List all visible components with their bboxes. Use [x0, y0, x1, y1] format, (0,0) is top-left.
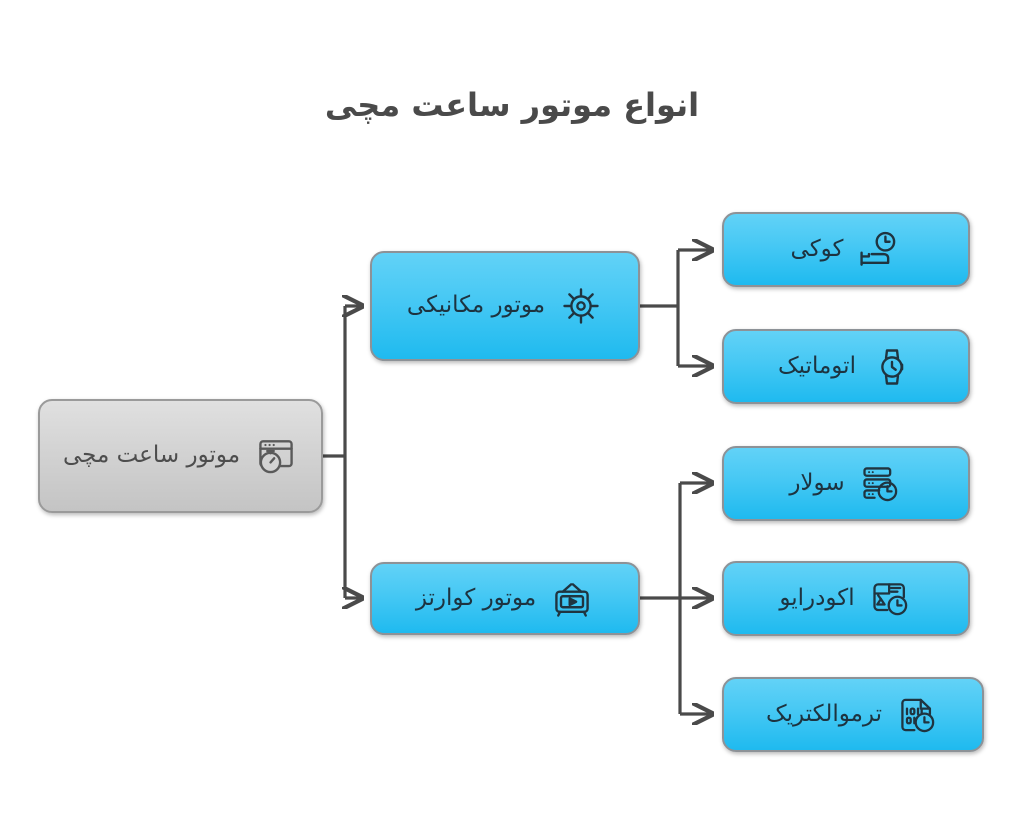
bed-clock-icon [857, 228, 901, 272]
server-clock-icon [859, 462, 903, 506]
node-label: موتور کوارتز [416, 584, 536, 613]
gear-sun-icon [559, 284, 603, 328]
node-solar[interactable]: سولار [722, 446, 970, 521]
node-label: اتوماتیک [778, 352, 856, 381]
node-manual-wind[interactable]: کوکی [722, 212, 970, 287]
binary-file-clock-icon [896, 693, 940, 737]
wristwatch-icon [870, 345, 914, 389]
retro-tv-play-icon [550, 577, 594, 621]
node-eco-drive[interactable]: اکودرایو [722, 561, 970, 636]
node-label: سولار [789, 469, 844, 498]
node-thermoelectric[interactable]: ترموالکتریک [722, 677, 984, 752]
node-label: اکودرایو [779, 584, 854, 613]
node-automatic[interactable]: اتوماتیک [722, 329, 970, 404]
browser-stopwatch-icon [254, 434, 298, 478]
diagram-canvas: انواع موتور ساعت مچی [0, 0, 1024, 832]
node-label: ترموالکتریک [766, 700, 882, 729]
node-label: موتور مکانیکی [407, 291, 545, 320]
node-quartz[interactable]: موتور کوارتز [370, 562, 640, 635]
node-mechanical[interactable]: موتور مکانیکی [370, 251, 640, 361]
node-label: کوکی [791, 235, 844, 264]
page-title: انواع موتور ساعت مچی [0, 86, 1024, 124]
node-watch-movement[interactable]: موتور ساعت مچی [38, 399, 323, 513]
image-chart-clock-icon [869, 577, 913, 621]
node-label: موتور ساعت مچی [63, 441, 240, 470]
